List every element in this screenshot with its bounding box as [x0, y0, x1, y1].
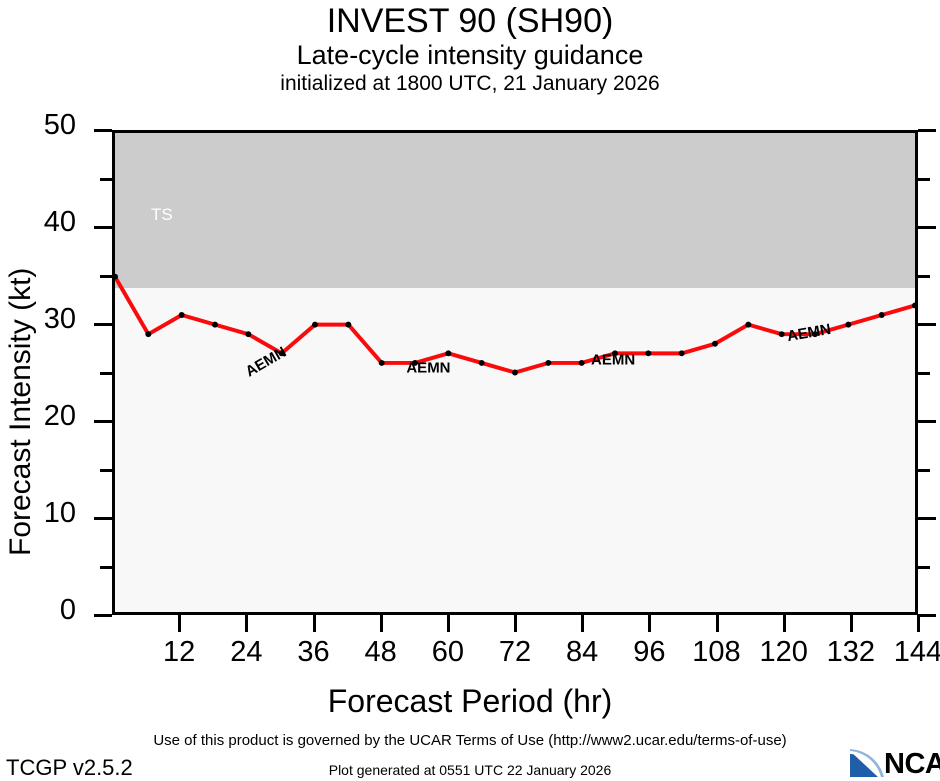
data-point-marker [379, 360, 385, 366]
y-axis-title: Forecast Intensity (kt) [4, 268, 38, 556]
page-title: INVEST 90 (SH90) [0, 2, 940, 40]
x-tick-major [716, 615, 719, 632]
chart-initialized-time: initialized at 1800 UTC, 21 January 2026 [0, 71, 940, 96]
y-tick-minor [100, 469, 112, 472]
y-tick-major [94, 420, 112, 423]
x-tick-major [178, 615, 181, 632]
data-point-marker [212, 322, 218, 328]
data-point-marker [245, 331, 251, 337]
data-point-marker [445, 350, 451, 356]
series-canvas [115, 133, 915, 612]
data-point-marker [712, 341, 718, 347]
plot-area: TS AEMNAEMNAEMNAEMN [112, 130, 918, 615]
data-point-marker [845, 322, 851, 328]
y-tick-minor-right [918, 566, 930, 569]
y-tick-label: 0 [60, 594, 76, 627]
data-point-marker [779, 331, 785, 337]
data-point-marker [145, 331, 151, 337]
y-tick-label: 40 [44, 206, 76, 239]
x-tick-major [380, 615, 383, 632]
footer-terms-of-use: Use of this product is governed by the U… [0, 732, 940, 749]
x-tick-major [850, 615, 853, 632]
y-tick-label: 10 [44, 497, 76, 530]
y-tick-major [94, 129, 112, 132]
y-tick-major-right [918, 323, 936, 326]
y-tick-minor [100, 178, 112, 181]
data-point-marker [679, 350, 685, 356]
data-point-marker [545, 360, 551, 366]
data-point-marker [512, 370, 518, 376]
data-point-marker [579, 360, 585, 366]
x-tick-major [917, 615, 920, 632]
y-tick-label: 50 [44, 109, 76, 142]
data-point-marker [745, 322, 751, 328]
y-tick-minor-right [918, 178, 930, 181]
y-tick-label: 30 [44, 303, 76, 336]
title-block: INVEST 90 (SH90) Late-cycle intensity gu… [0, 0, 940, 96]
y-tick-minor-right [918, 469, 930, 472]
footer-generated-time: Plot generated at 0551 UTC 22 January 20… [0, 762, 940, 778]
footer-version: TCGP v2.5.2 [6, 755, 133, 781]
x-tick-major [313, 615, 316, 632]
y-tick-major-right [918, 420, 936, 423]
series-inline-label: AEMN [591, 351, 635, 368]
y-tick-major [94, 614, 112, 617]
data-point-marker [645, 350, 651, 356]
data-point-marker [312, 322, 318, 328]
y-tick-major [94, 226, 112, 229]
data-point-marker [879, 312, 885, 318]
data-point-marker [479, 360, 485, 366]
data-point-marker [179, 312, 185, 318]
x-tick-label: 144 [878, 636, 940, 669]
ncar-wordmark: NCAR [884, 748, 940, 781]
y-tick-major-right [918, 226, 936, 229]
y-tick-major-right [918, 129, 936, 132]
y-tick-major [94, 323, 112, 326]
x-tick-major [447, 615, 450, 632]
y-tick-minor [100, 275, 112, 278]
x-tick-major [581, 615, 584, 632]
chart-subtitle: Late-cycle intensity guidance [0, 40, 940, 71]
y-tick-major [94, 517, 112, 520]
x-tick-major [648, 615, 651, 632]
y-tick-minor-right [918, 275, 930, 278]
x-axis-title: Forecast Period (hr) [0, 683, 940, 720]
data-point-marker [345, 322, 351, 328]
y-tick-minor-right [918, 372, 930, 375]
y-tick-label: 20 [44, 400, 76, 433]
y-tick-minor [100, 566, 112, 569]
x-tick-major [514, 615, 517, 632]
y-tick-major-right [918, 517, 936, 520]
x-tick-major [245, 615, 248, 632]
series-line [115, 277, 915, 373]
series-inline-label: AEMN [406, 359, 450, 376]
y-tick-major-right [918, 614, 936, 617]
x-tick-major [783, 615, 786, 632]
y-tick-minor [100, 372, 112, 375]
